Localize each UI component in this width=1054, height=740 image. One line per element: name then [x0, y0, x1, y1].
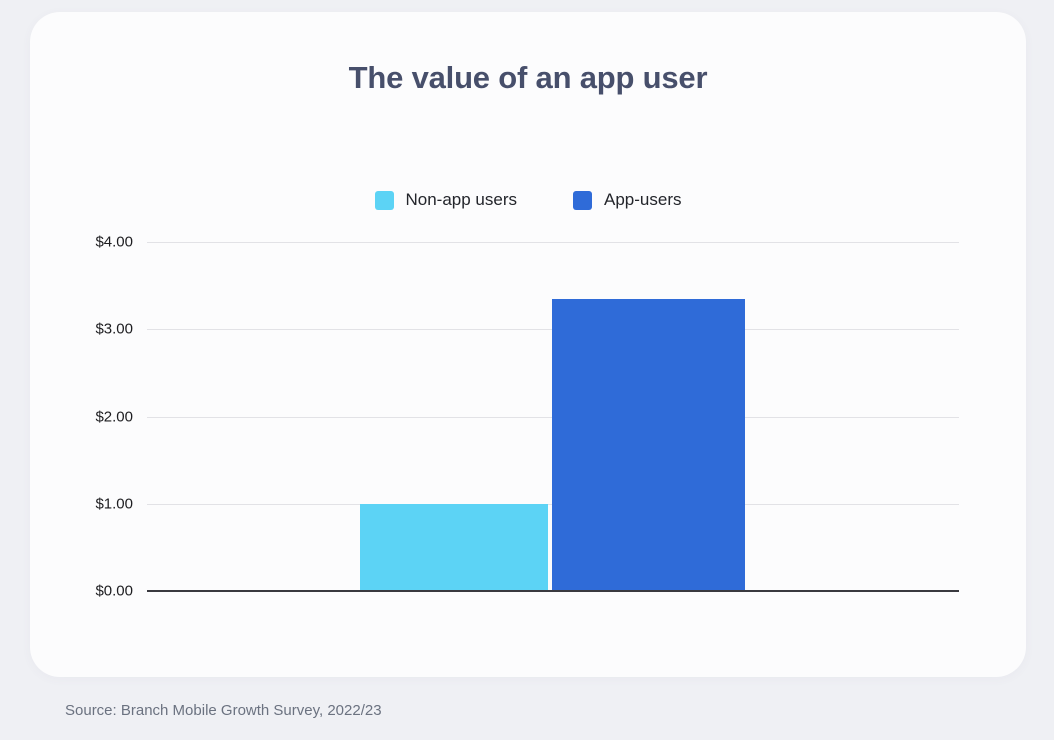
y-axis-tick-label: $3.00 [95, 321, 133, 338]
y-axis-tick-label: $4.00 [95, 234, 133, 251]
legend-label-app-users: App-users [604, 190, 681, 210]
chart-card: The value of an app user Non-app users A… [30, 12, 1026, 677]
y-axis-tick-label: $2.00 [95, 408, 133, 425]
bar-non-app-users[interactable] [360, 504, 548, 591]
y-axis-tick-label: $0.00 [95, 583, 133, 600]
legend-item-app-users[interactable]: App-users [573, 190, 681, 210]
x-axis-line [147, 590, 959, 592]
gridline [147, 242, 959, 243]
legend-swatch-icon-non-app-users [375, 191, 394, 210]
source-note: Source: Branch Mobile Growth Survey, 202… [65, 702, 382, 719]
page-title: The value of an app user [30, 60, 1026, 96]
bar-app-users[interactable] [552, 299, 745, 591]
y-axis-tick-label: $1.00 [95, 495, 133, 512]
chart-legend: Non-app users App-users [30, 190, 1026, 210]
legend-swatch-icon-app-users [573, 191, 592, 210]
plot-area: $4.00$3.00$2.00$1.00$0.00 [147, 242, 959, 591]
legend-label-non-app-users: Non-app users [406, 190, 518, 210]
legend-item-non-app-users[interactable]: Non-app users [375, 190, 518, 210]
